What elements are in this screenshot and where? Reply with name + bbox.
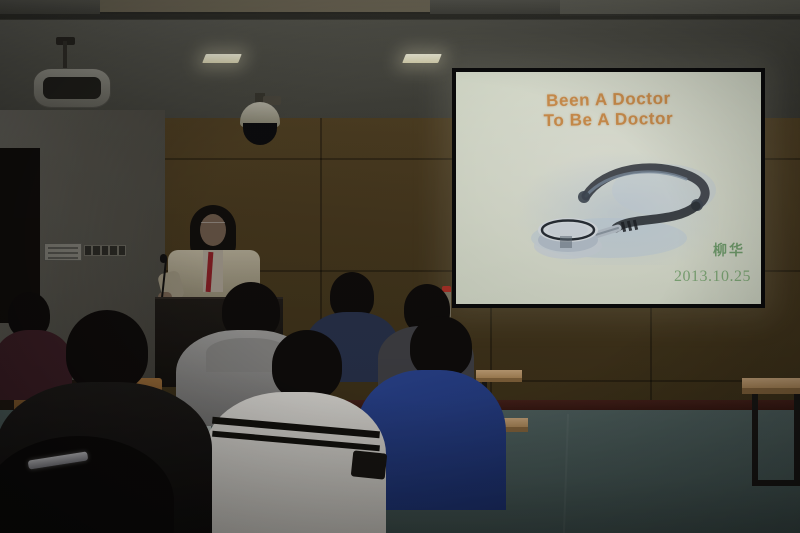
slide-date: 2013.10.25 xyxy=(674,268,751,286)
attendee-head xyxy=(410,316,472,378)
wall-outlet-plate[interactable] xyxy=(84,245,126,256)
desk-leg xyxy=(794,394,800,486)
ceiling-light-icon xyxy=(202,54,242,63)
slide-title: Been A Doctor To Be A Doctor xyxy=(456,90,761,130)
stethoscope-icon xyxy=(514,150,719,265)
speaker-mount-pole xyxy=(63,41,67,71)
desk-leg xyxy=(752,394,758,486)
empty-desk-right xyxy=(742,378,800,388)
desk xyxy=(476,370,522,378)
desk-foot xyxy=(752,480,800,486)
ceiling-recess-panel xyxy=(100,0,430,14)
speaker-grill xyxy=(43,77,101,99)
slide-title-line-2: To Be A Doctor xyxy=(456,107,761,132)
desk-edge xyxy=(742,388,800,394)
ceiling-light-icon xyxy=(402,54,442,63)
slide-author: 柳华 xyxy=(713,240,745,260)
attendee-head xyxy=(272,330,342,400)
projection-screen-surface: Been A Doctor To Be A Doctor xyxy=(456,72,761,304)
speaker-glasses-icon xyxy=(201,222,225,228)
jacket-patch xyxy=(351,450,388,479)
projection-screen[interactable]: Been A Doctor To Be A Doctor xyxy=(452,68,765,308)
ceiling-speaker-icon xyxy=(33,68,111,108)
lecture-hall-photo: Been A Doctor To Be A Doctor xyxy=(0,0,800,533)
wall-sign xyxy=(44,243,82,261)
speaker-face xyxy=(200,214,226,246)
ceiling-trim-band xyxy=(0,14,800,19)
attendee-head xyxy=(66,310,148,392)
microphone-icon xyxy=(160,254,167,263)
